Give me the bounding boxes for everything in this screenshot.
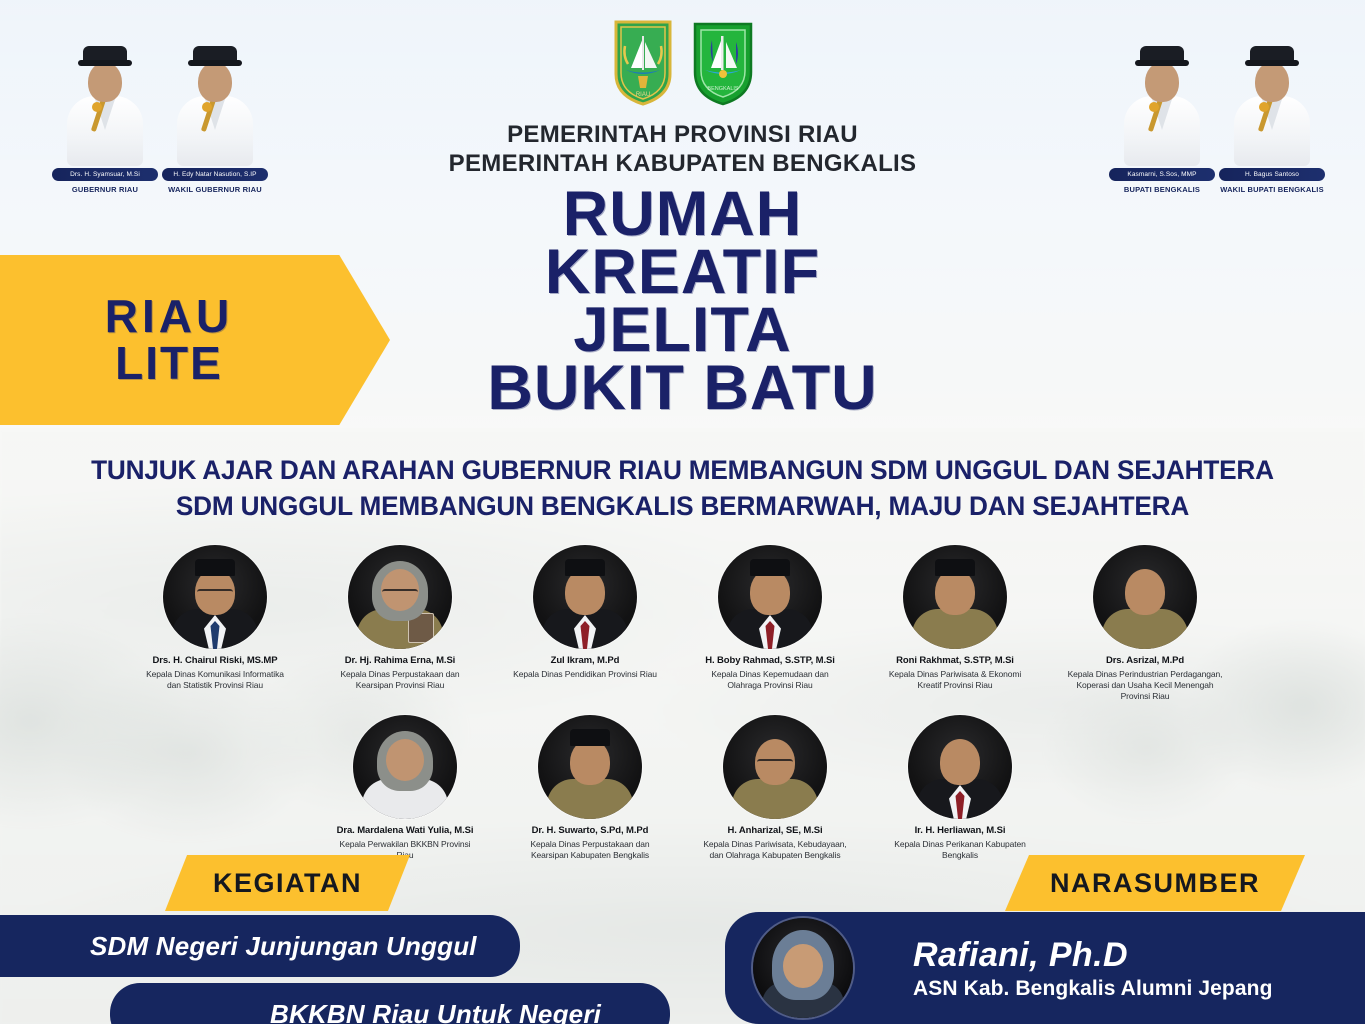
activity-label: SDM Negeri Junjungan Unggul: [90, 931, 477, 962]
uniform: [1102, 609, 1188, 649]
peci-hat-icon: [1250, 46, 1294, 66]
medal-icon: [202, 102, 212, 112]
person-name: H. Anharizal, SE, M.Si: [703, 825, 848, 837]
activity-item-2: BKKBN Riau Untuk Negeri: [110, 983, 670, 1024]
peci-hat-icon: [193, 46, 237, 66]
glasses-icon: [757, 759, 793, 768]
riau-province-emblem-icon: RIAU: [612, 18, 674, 106]
person-name: Zul Ikram, M.Pd: [513, 655, 658, 667]
government-line-1: PEMERINTAH PROVINSI RIAU: [0, 120, 1365, 149]
medal-icon: [1259, 102, 1269, 112]
person-name: Drs. Asrizal, M.Pd: [1068, 655, 1223, 667]
peci-hat-icon: [750, 559, 790, 576]
activity-item-1: SDM Negeri Junjungan Unggul: [0, 915, 520, 977]
person-name: Drs. H. Chairul Riski, MS.MP: [143, 655, 288, 667]
avatar: [533, 545, 637, 649]
uniform: [732, 779, 818, 819]
activity-label: BKKBN Riau Untuk Negeri: [270, 999, 601, 1024]
person-role: Kepala Dinas Pendidikan Provinsi Riau: [513, 669, 658, 680]
person-name: Dr. Hj. Rahima Erna, M.Si: [328, 655, 473, 667]
speaker-info: Rafiani, Ph.D ASN Kab. Bengkalis Alumni …: [913, 936, 1273, 1001]
avatar: [348, 545, 452, 649]
person-role: Kepala Dinas Perindustrian Perdagangan, …: [1068, 669, 1223, 702]
government-heading: PEMERINTAH PROVINSI RIAU PEMERINTAH KABU…: [0, 120, 1365, 179]
face: [1125, 569, 1165, 615]
avatar: [903, 545, 1007, 649]
speaker-face: [783, 944, 823, 988]
svg-text:BENGKALIS: BENGKALIS: [707, 86, 739, 92]
kegiatan-ribbon: KEGIATAN: [165, 855, 410, 911]
avatar: [718, 545, 822, 649]
glasses-icon: [197, 589, 233, 598]
face: [940, 739, 980, 785]
uniform: [912, 609, 998, 649]
people-row-2: Dra. Mardalena Wati Yulia, M.Si Kepala P…: [0, 715, 1365, 861]
title-line-1: RUMAH: [0, 186, 1365, 244]
government-line-2: PEMERINTAH KABUPATEN BENGKALIS: [0, 149, 1365, 178]
person-role: Kepala Dinas Perpustakaan dan Kearsipan …: [328, 669, 473, 691]
emblem-group: RIAU BENGKALIS: [612, 18, 754, 106]
badge-line-1: RIAU: [105, 293, 233, 340]
person-card: Drs. H. Chairul Riski, MS.MP Kepala Dina…: [143, 545, 288, 702]
person-role: Kepala Dinas Perpustakaan dan Kearsipan …: [518, 839, 663, 861]
person-name: Ir. H. Herliawan, M.Si: [888, 825, 1033, 837]
peci-hat-icon: [195, 559, 235, 576]
person-name: H. Boby Rahmad, S.STP, M.Si: [698, 655, 843, 667]
person-card: Dr. Hj. Rahima Erna, M.Si Kepala Dinas P…: [328, 545, 473, 702]
peci-hat-icon: [570, 729, 610, 746]
person-card: Drs. Asrizal, M.Pd Kepala Dinas Perindus…: [1068, 545, 1223, 702]
speaker-avatar: [753, 918, 853, 1018]
speaker-name: Rafiani, Ph.D: [913, 936, 1273, 975]
person-name: Dra. Mardalena Wati Yulia, M.Si: [333, 825, 478, 837]
face: [386, 739, 424, 781]
avatar: [908, 715, 1012, 819]
peci-hat-icon: [565, 559, 605, 576]
person-card: H. Anharizal, SE, M.Si Kepala Dinas Pari…: [703, 715, 848, 861]
peci-hat-icon: [83, 46, 127, 66]
speaker-card: Rafiani, Ph.D ASN Kab. Bengkalis Alumni …: [725, 912, 1365, 1024]
tagline-line-2: SDM UNGGUL MEMBANGUN BENGKALIS BERMARWAH…: [20, 488, 1344, 524]
face: [1255, 62, 1289, 102]
face: [198, 62, 232, 102]
medal-icon: [1149, 102, 1159, 112]
svg-text:RIAU: RIAU: [635, 92, 649, 98]
face: [88, 62, 122, 102]
person-card: Zul Ikram, M.Pd Kepala Dinas Pendidikan …: [513, 545, 658, 702]
kegiatan-label: KEGIATAN: [213, 868, 362, 899]
medal-icon: [92, 102, 102, 112]
person-role: Kepala Dinas Pariwisata, Kebudayaan, dan…: [703, 839, 848, 861]
avatar: [538, 715, 642, 819]
person-card: H. Boby Rahmad, S.STP, M.Si Kepala Dinas…: [698, 545, 843, 702]
narasumber-label: NARASUMBER: [1050, 868, 1260, 899]
person-card: Dra. Mardalena Wati Yulia, M.Si Kepala P…: [333, 715, 478, 861]
peci-hat-icon: [1140, 46, 1184, 66]
person-name: Dr. H. Suwarto, S.Pd, M.Pd: [518, 825, 663, 837]
bengkalis-regency-emblem-icon: BENGKALIS: [692, 18, 754, 106]
people-row-1: Drs. H. Chairul Riski, MS.MP Kepala Dina…: [0, 545, 1365, 702]
badge-line-2: LITE: [115, 340, 223, 387]
speaker-subtitle: ASN Kab. Bengkalis Alumni Jepang: [913, 977, 1273, 1001]
person-role: Kepala Dinas Pariwisata & Ekonomi Kreati…: [883, 669, 1028, 691]
avatar: [723, 715, 827, 819]
person-role: Kepala Dinas Perikanan Kabupaten Bengkal…: [888, 839, 1033, 861]
tagline-block: TUNJUK AJAR DAN ARAHAN GUBERNUR RIAU MEM…: [0, 452, 1365, 524]
avatar: [1093, 545, 1197, 649]
face: [1145, 62, 1179, 102]
avatar: [163, 545, 267, 649]
person-name: Roni Rakhmat, S.STP, M.Si: [883, 655, 1028, 667]
person-card: Dr. H. Suwarto, S.Pd, M.Pd Kepala Dinas …: [518, 715, 663, 861]
riau-lite-badge: RIAU LITE: [0, 255, 390, 425]
tagline-line-1: TUNJUK AJAR DAN ARAHAN GUBERNUR RIAU MEM…: [20, 452, 1344, 488]
narasumber-ribbon: NARASUMBER: [1005, 855, 1305, 911]
poster-root: Drs. H. Syamsuar, M.Si GUBERNUR RIAU H. …: [0, 0, 1365, 1024]
person-role: Kepala Dinas Kepemudaan dan Olahraga Pro…: [698, 669, 843, 691]
person-card: Roni Rakhmat, S.STP, M.Si Kepala Dinas P…: [883, 545, 1028, 702]
person-card: Ir. H. Herliawan, M.Si Kepala Dinas Peri…: [888, 715, 1033, 861]
glasses-icon: [382, 589, 418, 598]
peci-hat-icon: [935, 559, 975, 576]
person-role: Kepala Dinas Komunikasi Informatika dan …: [143, 669, 288, 691]
avatar: [353, 715, 457, 819]
uniform: [547, 779, 633, 819]
